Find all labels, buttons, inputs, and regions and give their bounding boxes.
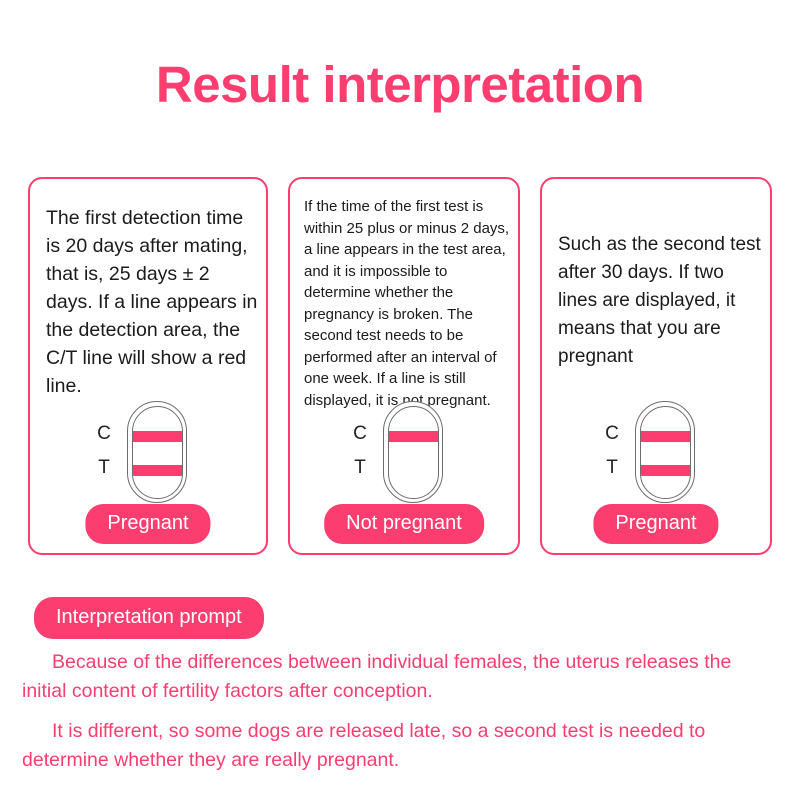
result-card-pregnant-first: The first detection time is 20 days afte… <box>28 177 268 555</box>
interpretation-prompt-pill: Interpretation prompt <box>34 597 264 639</box>
strip-labels: C T <box>345 401 375 503</box>
control-band <box>132 431 183 442</box>
page-title: Result interpretation <box>0 57 800 113</box>
test-strip: C T <box>597 401 715 503</box>
interpretation-prompt-text: Because of the differences between indiv… <box>22 648 778 775</box>
control-line-label: C <box>597 424 627 443</box>
result-badge: Not pregnant <box>324 504 484 544</box>
cassette-outline-icon <box>635 401 695 503</box>
test-strip-illustration: C T <box>542 401 770 511</box>
test-strip: C T <box>89 401 207 503</box>
test-line-label: T <box>89 458 119 477</box>
result-cards-row: The first detection time is 20 days afte… <box>28 177 772 557</box>
card-description: The first detection time is 20 days afte… <box>46 204 260 400</box>
test-line-label: T <box>597 458 627 477</box>
result-card-not-pregnant: If the time of the first test is within … <box>288 177 520 555</box>
test-line-label: T <box>345 458 375 477</box>
card-description: Such as the second test after 30 days. I… <box>558 231 766 371</box>
result-badge: Pregnant <box>593 504 718 544</box>
cassette-window <box>640 406 691 499</box>
cassette-window <box>388 406 439 499</box>
test-strip: C T <box>345 401 463 503</box>
test-strip-illustration: C T <box>30 401 266 511</box>
control-line-label: C <box>89 424 119 443</box>
control-band <box>640 431 691 442</box>
result-card-pregnant-second: Such as the second test after 30 days. I… <box>540 177 772 555</box>
card-description: If the time of the first test is within … <box>304 196 514 411</box>
strip-labels: C T <box>89 401 119 503</box>
test-band <box>132 465 183 476</box>
cassette-window <box>132 406 183 499</box>
test-band <box>640 465 691 476</box>
control-line-label: C <box>345 424 375 443</box>
cassette-outline-icon <box>383 401 443 503</box>
control-band <box>388 431 439 442</box>
strip-labels: C T <box>597 401 627 503</box>
result-badge: Pregnant <box>85 504 210 544</box>
cassette-outline-icon <box>127 401 187 503</box>
prompt-paragraph: Because of the differences between indiv… <box>22 648 778 706</box>
test-strip-illustration: C T <box>290 401 518 511</box>
prompt-paragraph: It is different, so some dogs are releas… <box>22 717 778 775</box>
